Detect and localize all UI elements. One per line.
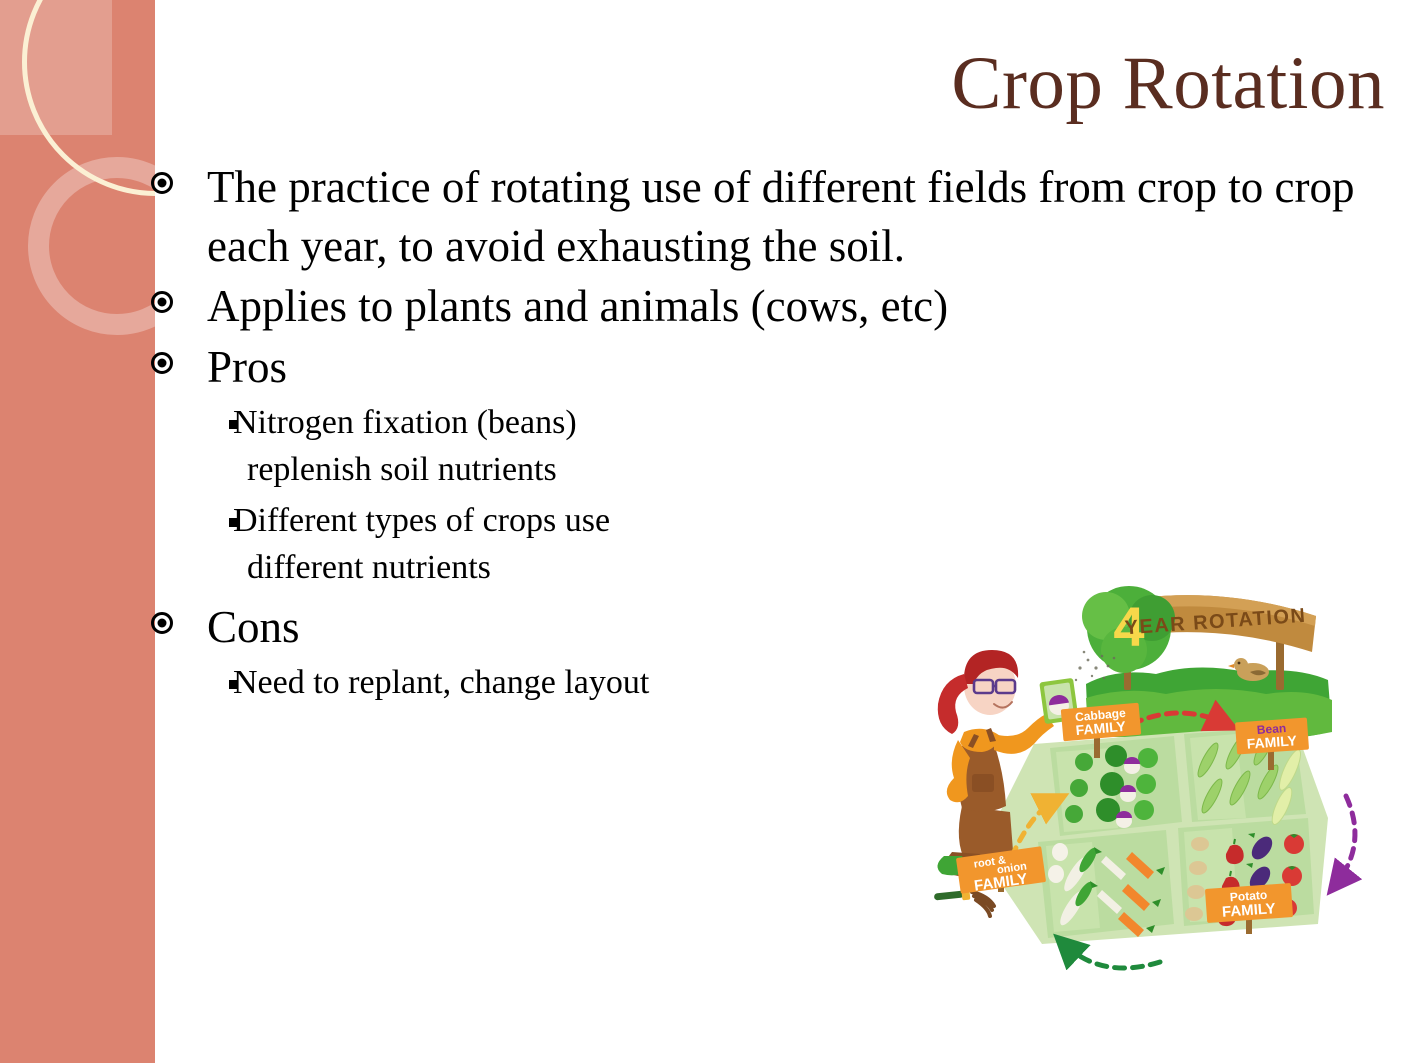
list-item-label: Pros [207,338,1410,397]
ring-dot-bullet-icon [151,172,173,194]
sub-list-item-label: Different types of crops use [233,498,993,545]
ring-dot-bullet-icon [151,612,173,634]
list-item-pros: Pros [145,338,1410,397]
slide-crop-rotation: Crop Rotation The practice of rotating u… [0,0,1417,1063]
sub-list-item-label: Need to replant, change layout [233,660,993,707]
sub-list-item: Nitrogen fixation (beans) replenish soil… [145,400,1410,494]
cabbage-family-crops [1065,745,1158,828]
square-bullet-icon [229,518,238,527]
list-item: The practice of rotating use of differen… [145,158,1410,275]
sub-list-item-continuation: replenish soil nutrients [247,447,1410,494]
sidebar-thin-circle-decoration [22,0,155,196]
ring-dot-bullet-icon [151,352,173,374]
ring-dot-bullet-icon [151,291,173,313]
list-item-label: Applies to plants and animals (cows, etc… [207,277,1410,336]
page-title: Crop Rotation [300,46,1385,121]
list-item-label: The practice of rotating use of differen… [207,158,1410,275]
decorative-sidebar [0,0,155,1063]
hand-fork-tool [934,890,994,916]
square-bullet-icon [229,420,238,429]
arrow-bean-to-potato [1336,796,1355,884]
crop-rotation-illustration: 4 YEAR ROTATION [916,556,1386,1001]
square-bullet-icon [229,680,238,689]
arrow-potato-to-root-onion [1064,944,1160,968]
sub-list-item-label: Nitrogen fixation (beans) [233,400,993,447]
list-item: Applies to plants and animals (cows, etc… [145,277,1410,336]
